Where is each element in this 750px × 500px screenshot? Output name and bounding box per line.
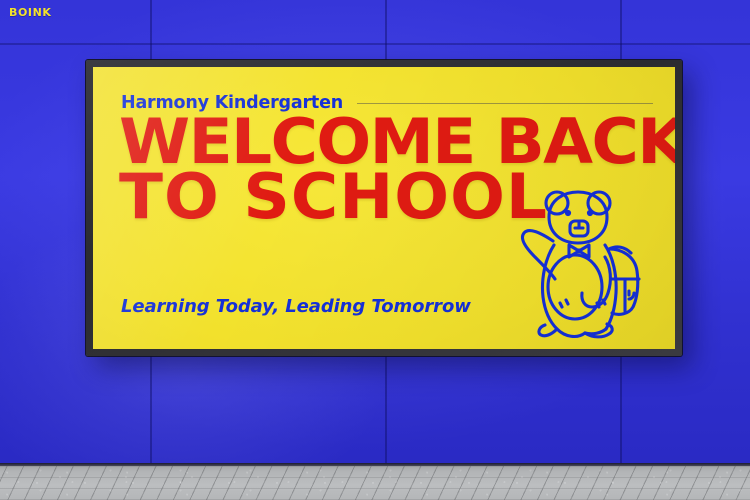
pavement	[0, 463, 750, 500]
boink-watermark: BOINK	[9, 7, 52, 18]
tagline: Learning Today, Leading Tomorrow	[121, 296, 471, 317]
billboard-mockup-scene: BOINK Harmony Kindergarten WELCOME BACK …	[0, 0, 750, 500]
bear-illustration-icon	[513, 183, 663, 343]
billboard-frame: Harmony Kindergarten WELCOME BACK TO SCH…	[86, 60, 682, 356]
header-divider-rule	[357, 103, 653, 104]
wall-panel-seam-horizontal	[0, 43, 750, 45]
paver-speckle	[0, 466, 750, 500]
billboard-face: Harmony Kindergarten WELCOME BACK TO SCH…	[93, 67, 675, 349]
